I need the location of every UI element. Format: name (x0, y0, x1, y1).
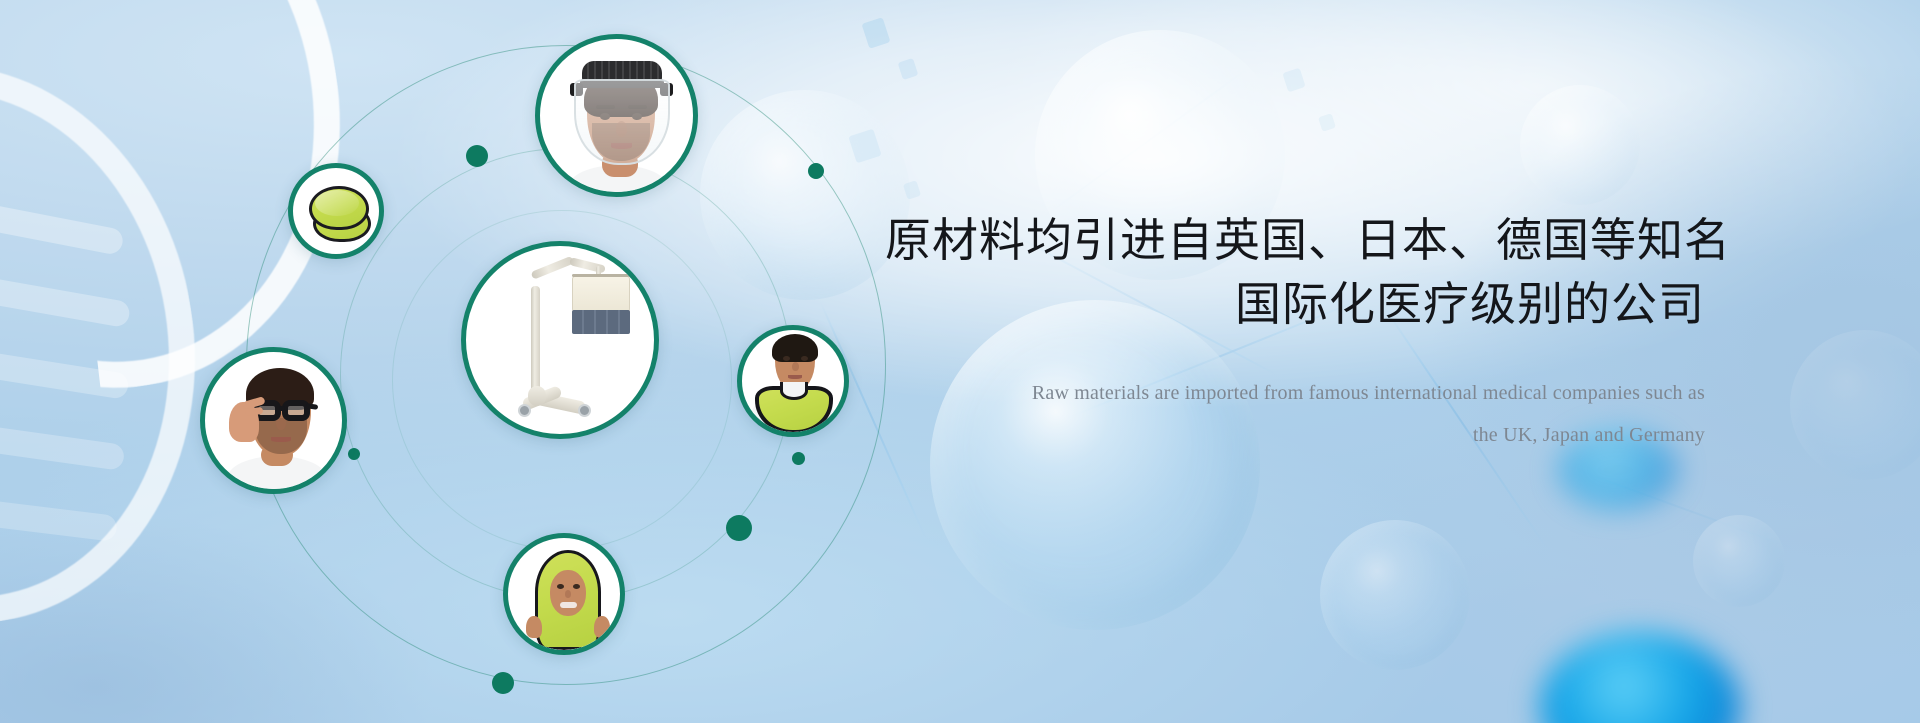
subtitle-line-2: the UK, Japan and Germany (885, 414, 1705, 456)
face-shield-photo (540, 39, 693, 192)
orbit-dot (348, 448, 360, 460)
orbit-dot (726, 515, 752, 541)
orbit-dot (808, 163, 824, 179)
bubble-lead-hood[interactable] (503, 533, 625, 655)
bubble-lead-glasses[interactable] (200, 347, 347, 494)
subtitle-line-1: Raw materials are imported from famous i… (885, 372, 1705, 414)
bubble-face-shield[interactable] (535, 34, 698, 197)
orbit-dot (492, 672, 514, 694)
orbit-dot (792, 452, 805, 465)
banner-text-block: 原材料均引进自英国、日本、德国等知名 国际化医疗级别的公司 Raw materi… (885, 208, 1705, 456)
headline-line-2: 国际化医疗级别的公司 (885, 272, 1705, 336)
bubble-thyroid-collar[interactable] (737, 325, 849, 437)
bubble-mobile-shield[interactable] (461, 241, 659, 439)
lead-cap-photo (293, 168, 379, 254)
hero-banner: 原材料均引进自英国、日本、德国等知名 国际化医疗级别的公司 Raw materi… (0, 0, 1920, 723)
thyroid-collar-photo (742, 330, 844, 432)
orbit-dot (466, 145, 488, 167)
lead-hood-photo (508, 538, 620, 650)
headline-line-1: 原材料均引进自英国、日本、德国等知名 (885, 208, 1705, 272)
lead-glasses-photo (205, 352, 342, 489)
mobile-shield-photo (466, 246, 654, 434)
bubble-lead-cap[interactable] (288, 163, 384, 259)
